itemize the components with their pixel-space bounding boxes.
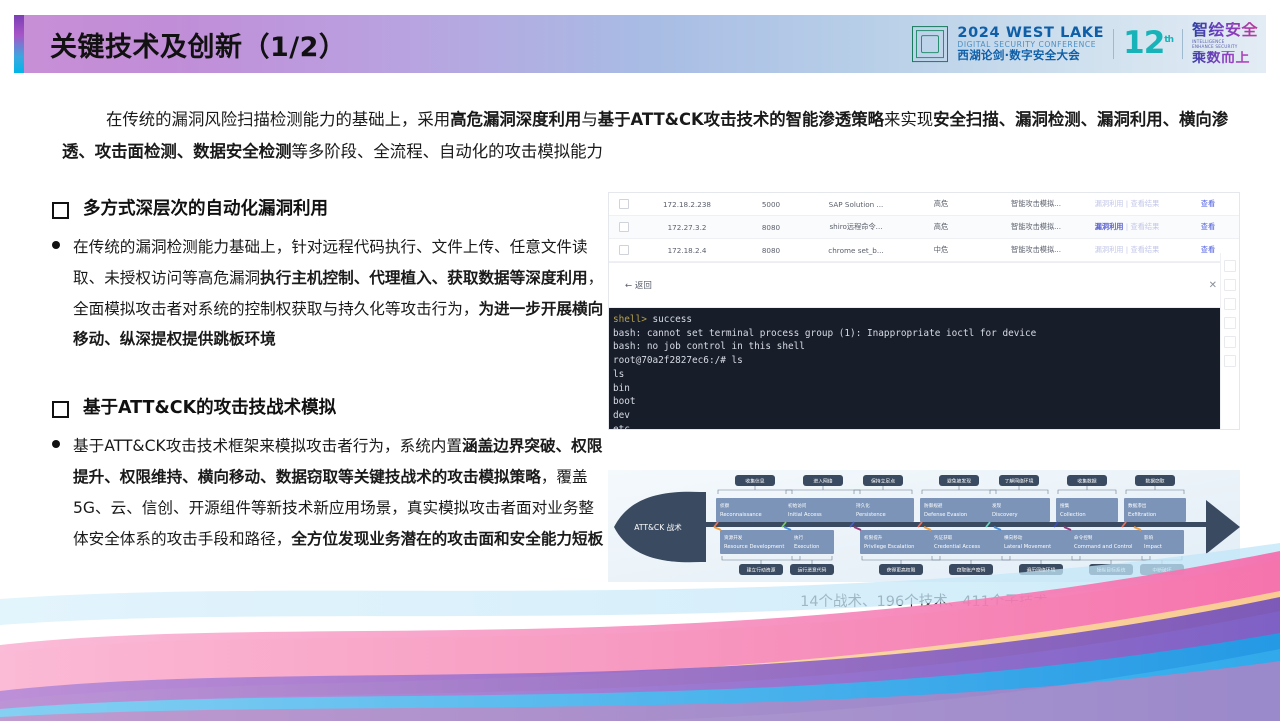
tactic-cn: 横向移动	[1004, 534, 1023, 541]
logo-line-3: 西湖论剑·数字安全大会	[957, 50, 1104, 62]
terminal-line: bash: cannot set terminal process group …	[613, 327, 1239, 341]
section-2-bullet: 基于ATT&CK攻击技术框架来模拟攻击者行为，系统内置涵盖边界突破、权限提升、权…	[52, 431, 608, 554]
goal-label: 保持立足点	[871, 478, 895, 485]
cell-actions[interactable]: 漏洞利用 | 查看结果	[1077, 222, 1177, 232]
s1-b1: 执行主机控制、代理植入、获取数据等深度利用	[260, 269, 587, 287]
tactic-en: Reconnaissance	[720, 512, 762, 518]
action-result[interactable]: 查看结果	[1131, 245, 1160, 254]
logo-divider-1	[1113, 29, 1114, 59]
screenshot-toolbar: ← 返回 ✕	[609, 262, 1239, 308]
tactic-cn: 发现	[992, 502, 1002, 509]
rail-item	[1224, 317, 1236, 329]
tactic-en: Lateral Movement	[1004, 544, 1051, 550]
lead-bold-2: 基于ATT&CK攻击技术的智能渗透策略	[598, 110, 884, 129]
slide-title-bar: 关键技术及创新（1/2） 2024 WEST LAKE DIGITAL SECU…	[14, 15, 1266, 73]
lead-part-1: 在传统的漏洞风险扫描检测能力的基础上，采用	[106, 110, 450, 129]
left-content-column: 多方式深层次的自动化漏洞利用 在传统的漏洞检测能力基础上，针对远程代码执行、文件…	[52, 196, 608, 554]
terminal-line: ls	[613, 368, 1239, 382]
action-exploit[interactable]: 漏洞利用	[1095, 199, 1124, 208]
back-button[interactable]: ← 返回	[625, 279, 652, 291]
goal-label: 收集数据	[1077, 478, 1096, 485]
cell-vuln-name: SAP Solution ...	[807, 200, 905, 209]
tactic-cn: 权限提升	[864, 534, 883, 541]
action-exploit[interactable]: 漏洞利用	[1095, 245, 1124, 254]
goal-label: 数据窃取	[1145, 478, 1164, 485]
goal-label: 获得更高权限	[887, 567, 916, 574]
vulnerability-table: 172.18.2.2385000SAP Solution ...高危智能攻击模拟…	[609, 193, 1239, 262]
terminal-line: boot	[613, 395, 1239, 409]
terminal-prompt: shell>	[613, 314, 647, 325]
tactic-cn: 侦察	[720, 502, 730, 509]
cell-ip: 172.27.3.2	[639, 223, 735, 232]
action-result[interactable]: 查看结果	[1131, 199, 1160, 208]
rail-item	[1224, 336, 1236, 348]
terminal-line: bash: no job control in this shell	[613, 340, 1239, 354]
logo-divider-2	[1182, 29, 1183, 59]
attck-tactics-diagram: ATT&CK 战术 侦察Reconnaissance收集信息初始访问Initia…	[608, 470, 1240, 582]
title-bar-gradient: 关键技术及创新（1/2） 2024 WEST LAKE DIGITAL SECU…	[24, 15, 1266, 73]
tactic-cn: 初始访问	[788, 502, 807, 509]
square-bullet-icon	[52, 202, 69, 219]
tactic-en: Defense Evasion	[924, 512, 967, 518]
tactic-cn: 防御规避	[924, 502, 943, 509]
tactic-cn: 持久化	[856, 502, 870, 509]
tactic-box	[784, 498, 862, 522]
slogan-line-2: 乘数而上	[1192, 51, 1258, 66]
tactic-en: Command and Control	[1074, 544, 1132, 550]
tactic-en: Privilege Escalation	[864, 544, 914, 550]
tactic-box	[852, 498, 914, 522]
tactic-box	[1070, 530, 1152, 554]
rail-item	[1224, 260, 1236, 272]
lead-paragraph: 在传统的漏洞风险扫描检测能力的基础上，采用高危漏洞深度利用与基于ATT&CK攻击…	[62, 104, 1247, 167]
attck-diagram-svg: ATT&CK 战术 侦察Reconnaissance收集信息初始访问Initia…	[608, 470, 1240, 582]
action-sep: |	[1124, 245, 1131, 254]
tactic-en: Exfiltration	[1128, 512, 1156, 518]
row-checkbox[interactable]	[609, 222, 639, 232]
tactic-en: Initial Access	[788, 512, 822, 518]
section-1-heading: 多方式深层次的自动化漏洞利用	[52, 196, 608, 222]
terminal-output[interactable]: shell> successbash: cannot set terminal …	[609, 308, 1239, 430]
section-2-bullet-text: 基于ATT&CK攻击技术框架来模拟攻击者行为，系统内置涵盖边界突破、权限提升、权…	[73, 431, 608, 554]
tactic-box	[930, 530, 1012, 554]
spine-label: ATT&CK 战术	[634, 522, 682, 532]
tactic-cn: 资源开发	[724, 534, 743, 541]
conference-logo: 2024 WEST LAKE DIGITAL SECURITY CONFEREN…	[912, 22, 1258, 66]
cell-actions[interactable]: 漏洞利用 | 查看结果	[1077, 245, 1177, 255]
cell-task: 智能攻击模拟...	[995, 222, 1077, 232]
row-checkbox[interactable]	[609, 245, 639, 255]
goal-label: 避免被发现	[947, 478, 971, 485]
slogan-line-1: 智绘安全	[1192, 22, 1258, 39]
action-exploit[interactable]: 漏洞利用	[1095, 222, 1124, 231]
conference-slogan: 智绘安全 INTELLIGENCE ENHANCE SECURITY 乘数而上	[1192, 22, 1258, 66]
dot-bullet-icon	[52, 440, 60, 448]
rail-item	[1224, 279, 1236, 291]
tactic-box	[720, 530, 802, 554]
goal-label: 收集信息	[745, 478, 764, 485]
cell-view-link[interactable]: 查看	[1177, 222, 1239, 232]
edition-suffix: th	[1164, 35, 1173, 45]
lead-part-4: 等多阶段、全流程、自动化的攻击模拟能力	[291, 142, 602, 161]
tactic-box	[716, 498, 794, 522]
tactic-cn: 命令控制	[1074, 534, 1093, 541]
tactic-en: Impact	[1144, 544, 1162, 550]
s2-t1: 基于ATT&CK攻击技术框架来模拟攻击者行为，系统内置	[73, 437, 462, 455]
cell-port: 8080	[735, 223, 807, 232]
table-row[interactable]: 172.27.3.28080shiro远程命令...高危智能攻击模拟...漏洞利…	[609, 216, 1239, 239]
lead-bold-1: 高危漏洞深度利用	[450, 110, 581, 129]
rail-item	[1224, 355, 1236, 367]
terminal-line: bin	[613, 382, 1239, 396]
goal-label: 建立行动资源	[747, 567, 776, 574]
tactic-cn: 搜集	[1060, 502, 1070, 509]
table-row[interactable]: 172.18.2.48080chrome set_b...中危智能攻击模拟...…	[609, 239, 1239, 262]
tactic-en: Collection	[1060, 512, 1086, 518]
tactic-en: Discovery	[992, 512, 1018, 518]
goal-label: 操纵目标系统	[1097, 567, 1126, 574]
product-screenshot-terminal: 172.18.2.2385000SAP Solution ...高危智能攻击模拟…	[608, 192, 1240, 430]
cell-task: 智能攻击模拟...	[995, 199, 1077, 209]
cell-vuln-name: chrome set_b...	[807, 246, 905, 255]
section-2-heading-text: 基于ATT&CK的攻击技战术模拟	[83, 395, 336, 421]
action-result[interactable]: 查看结果	[1131, 222, 1160, 231]
square-bullet-icon	[52, 401, 69, 418]
cell-ip: 172.18.2.4	[639, 246, 735, 255]
tactic-box	[988, 498, 1050, 522]
terminal-line: root@70a2f2827ec6:/# ls	[613, 354, 1239, 368]
page-title: 关键技术及创新（1/2）	[50, 25, 346, 64]
tactic-en: Persistence	[856, 512, 886, 518]
cell-port: 5000	[735, 200, 807, 209]
terminal-line-text: success	[647, 314, 692, 325]
cell-vuln-name: shiro远程命令...	[807, 222, 905, 232]
tactic-box	[1000, 530, 1082, 554]
action-sep: |	[1124, 199, 1131, 208]
west-lake-emblem-icon	[912, 26, 948, 62]
tactic-cn: 执行	[794, 534, 804, 541]
close-icon[interactable]: ✕	[1209, 280, 1217, 291]
cell-task: 智能攻击模拟...	[995, 245, 1077, 255]
cell-ip: 172.18.2.238	[639, 200, 735, 209]
goal-label: 进入网络	[813, 478, 832, 485]
cell-actions[interactable]: 漏洞利用 | 查看结果	[1077, 199, 1177, 209]
goal-label: 遍历网络环境	[1027, 567, 1056, 574]
tactic-box	[1140, 530, 1184, 554]
screenshot-right-rail	[1220, 253, 1239, 429]
lead-part-3: 来实现	[884, 110, 933, 129]
goal-label: 窃取账户密码	[957, 567, 986, 574]
action-sep: |	[1124, 222, 1131, 231]
tactic-box	[860, 530, 942, 554]
section-2: 基于ATT&CK的攻击技战术模拟 基于ATT&CK攻击技术框架来模拟攻击者行为，…	[52, 395, 608, 554]
logo-line-1: 2024 WEST LAKE	[957, 26, 1104, 41]
slide-root: 关键技术及创新（1/2） 2024 WEST LAKE DIGITAL SECU…	[0, 0, 1280, 721]
section-2-heading: 基于ATT&CK的攻击技战术模拟	[52, 395, 608, 421]
cell-risk-level: 高危	[905, 199, 977, 209]
tactic-box	[1056, 498, 1118, 522]
cell-port: 8080	[735, 246, 807, 255]
cell-risk-level: 中危	[905, 245, 977, 255]
tactic-box	[920, 498, 998, 522]
tactic-en: Credential Access	[934, 544, 980, 550]
logo-wordmark: 2024 WEST LAKE DIGITAL SECURITY CONFEREN…	[957, 26, 1104, 61]
tactic-cn: 影响	[1144, 534, 1154, 541]
s2-b2: 全方位发现业务潜在的攻击面和安全能力短板	[291, 530, 603, 548]
table-row[interactable]: 172.18.2.2385000SAP Solution ...高危智能攻击模拟…	[609, 193, 1239, 216]
lead-part-2: 与	[581, 110, 597, 129]
tactic-box	[1124, 498, 1186, 522]
goal-label: 运行恶意代码	[798, 567, 827, 574]
terminal-line: etc	[613, 423, 1239, 430]
row-checkbox[interactable]	[609, 199, 639, 209]
diagram-caption: 14个战术、196个技术、411个子技术	[608, 590, 1240, 611]
dot-bullet-icon	[52, 241, 60, 249]
tactic-en: Execution	[794, 544, 819, 550]
tactic-cn: 凭证获取	[934, 534, 953, 541]
tactic-en: Resource Development	[724, 544, 784, 550]
rail-item	[1224, 298, 1236, 310]
tactic-box	[790, 530, 834, 554]
edition-number: 12	[1123, 25, 1164, 61]
goal-label: 了解网络环境	[1005, 478, 1034, 485]
cell-view-link[interactable]: 查看	[1177, 199, 1239, 209]
terminal-line: shell> success	[613, 313, 1239, 327]
section-1-bullet: 在传统的漏洞检测能力基础上，针对远程代码执行、文件上传、任意文件读取、未授权访问…	[52, 232, 608, 355]
title-accent-bar	[14, 15, 24, 73]
goal-label: 中断破坏	[1152, 567, 1171, 574]
tactic-cn: 数据渗出	[1128, 502, 1147, 509]
edition-badge: 12th	[1123, 28, 1173, 59]
cell-risk-level: 高危	[905, 222, 977, 232]
section-1-heading-text: 多方式深层次的自动化漏洞利用	[83, 196, 328, 222]
terminal-line: dev	[613, 409, 1239, 423]
section-1: 多方式深层次的自动化漏洞利用 在传统的漏洞检测能力基础上，针对远程代码执行、文件…	[52, 196, 608, 355]
section-1-bullet-text: 在传统的漏洞检测能力基础上，针对远程代码执行、文件上传、任意文件读取、未授权访问…	[73, 232, 608, 355]
